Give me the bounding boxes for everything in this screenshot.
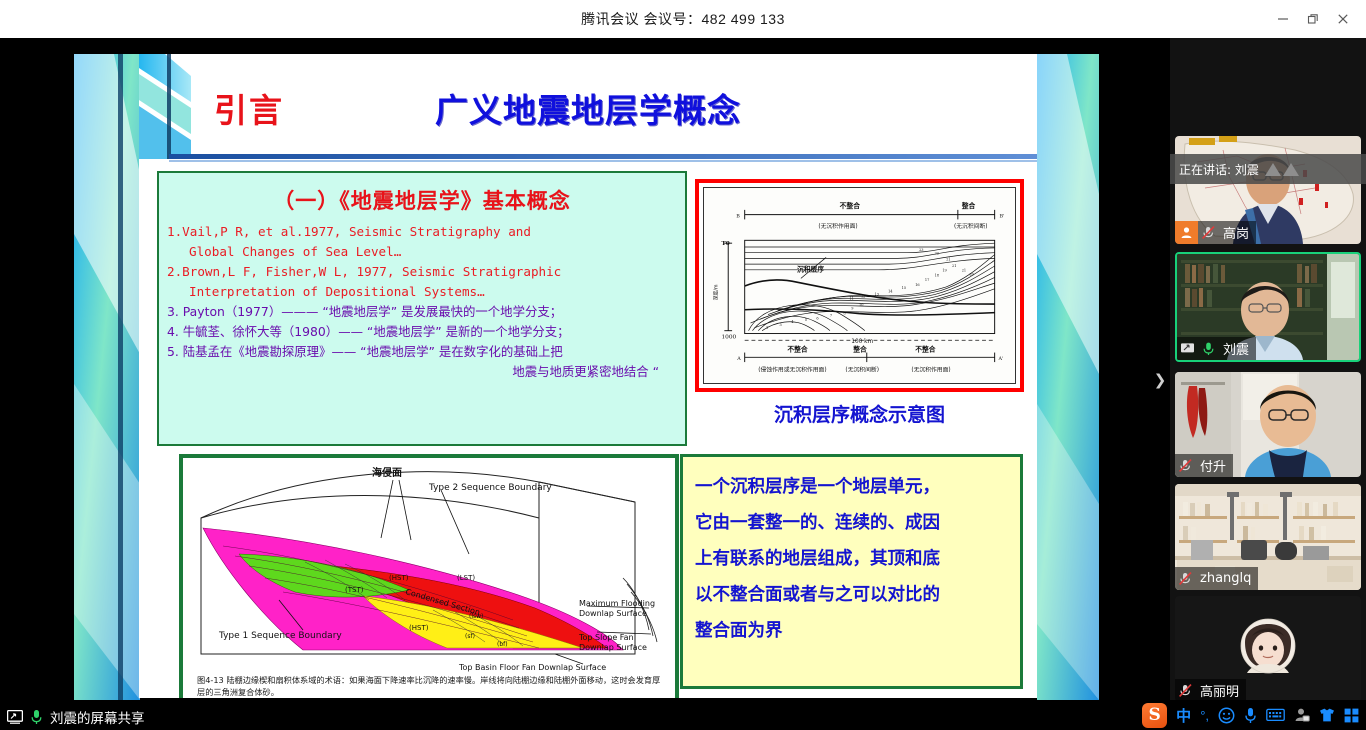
svg-text:17: 17 — [925, 278, 929, 282]
active-speaker-banner: 正在讲话: 刘震 — [1170, 154, 1366, 184]
svg-text:14: 14 — [888, 290, 893, 294]
concept-item-3: 3. Payton（1977）——— “地震地层学” 是发展最快的一个地学分支； — [167, 302, 677, 322]
screen-share-badge-icon — [1177, 337, 1198, 360]
svg-text:深度/m: 深度/m — [713, 284, 720, 300]
svg-text:6: 6 — [816, 316, 818, 320]
svg-text:B: B — [736, 214, 740, 220]
microphone-muted-icon — [1175, 567, 1196, 590]
label-sea-surface: 海侵面 — [372, 466, 402, 479]
participant-nameplate-liuzhen: 刘震 — [1177, 337, 1256, 360]
svg-text:9: 9 — [851, 307, 853, 311]
label-tsf: Top Slope Fan — [578, 633, 634, 642]
block-diagram-caption: 图4-13 陆棚边缘楔和扇积体系域的术语：如果海面下降速率比沉降的速率慢。岸线将… — [197, 675, 667, 698]
participant-rail: 正在讲话: 刘震 — [1170, 38, 1366, 730]
svg-text:1000: 1000 — [721, 334, 736, 340]
definition-line-1: 一个沉积层序是一个地层单元， — [695, 469, 1010, 505]
concept-box: （一）《地震地层学》基本概念 1.Vail,P R, et al.1977, S… — [157, 171, 687, 446]
block-diagram-canvas: 海侵面 Type 2 Sequence Boundary Type 1 Sequ… — [183, 458, 675, 698]
participant-name-gaoliming: 高丽明 — [1200, 681, 1239, 700]
definition-line-5: 整合面为界 — [695, 613, 1010, 649]
svg-text:8: 8 — [844, 312, 846, 316]
svg-text:21: 21 — [952, 264, 956, 268]
concept-heading: （一）《地震地层学》基本概念 — [167, 185, 677, 215]
svg-text:T0: T0 — [721, 241, 729, 247]
participant-name-liuzhen: 刘震 — [1223, 339, 1249, 358]
microphone-muted-icon — [1175, 454, 1196, 477]
svg-text:不整合: 不整合 — [915, 345, 936, 354]
svg-text:整合: 整合 — [961, 201, 976, 210]
ribbon-right-decoration — [1037, 54, 1099, 700]
svg-text:20: 20 — [969, 273, 973, 277]
block-diagram-figure: 海侵面 Type 2 Sequence Boundary Type 1 Sequ… — [179, 454, 679, 698]
ribbon-left-decoration — [74, 54, 140, 700]
concept-item-1: 1.Vail,P R, et al.1977, Seismic Stratigr… — [167, 222, 677, 242]
window-controls — [1268, 0, 1366, 38]
window-title: 腾讯会议 会议号：482 499 133 — [581, 9, 785, 29]
active-speaker-label: 正在讲话: 刘震 — [1179, 161, 1259, 178]
participant-nameplate-gaogang: 高岗 — [1175, 221, 1256, 244]
svg-text:(bf): (bf) — [497, 641, 508, 648]
share-status-bar: 刘震的屏幕共享 — [0, 704, 1170, 730]
concept-item-5: 5. 陆基孟在《地震勘探原理》—— “地震地层学” 是在数字化的基础上把 — [167, 342, 677, 362]
chinese-mode-icon[interactable]: 中 — [1176, 705, 1191, 726]
svg-text:100 km: 100 km — [851, 339, 873, 345]
slide-header: 引言 广义地震地层学概念 — [139, 54, 1037, 159]
user-icon[interactable] — [1294, 707, 1310, 723]
participant-tile-liuzhen[interactable]: 刘震 — [1175, 252, 1361, 362]
svg-text:5: 5 — [805, 318, 807, 322]
participant-nameplate-zhanglq: zhanglq — [1175, 567, 1258, 590]
tencent-meeting-window: 腾讯会议 会议号：482 499 133 — [0, 0, 1366, 730]
svg-text:(无沉积作用面): (无沉积作用面) — [818, 222, 857, 230]
microphone-muted-icon — [1175, 679, 1196, 702]
svg-text:15: 15 — [902, 286, 906, 290]
svg-text:(sf): (sf) — [465, 633, 475, 640]
svg-text:(LST): (LST) — [457, 574, 475, 582]
header-rule — [169, 154, 1037, 159]
skin-icon[interactable] — [1319, 707, 1335, 723]
participant-tile-fusheng[interactable]: 付升 — [1175, 372, 1361, 477]
participant-nameplate-fusheng: 付升 — [1175, 454, 1233, 477]
participant-name-fusheng: 付升 — [1200, 456, 1226, 475]
punctuation-icon[interactable]: °, — [1200, 708, 1209, 723]
concept-item-1b: Global Changes of Sea Level… — [167, 242, 677, 262]
label-type1: Type 1 Sequence Boundary — [218, 631, 342, 641]
microphone-muted-icon — [1198, 221, 1219, 244]
seismic-figure-caption: 沉积层序概念示意图 — [695, 400, 1024, 427]
seismic-section-figure: B B' 不整合 整合 (无沉积作用面) (无沉积间断) T0 1000 深度/… — [695, 179, 1024, 392]
emoji-icon[interactable] — [1218, 707, 1235, 724]
screen-share-icon — [6, 709, 23, 725]
restore-icon[interactable] — [1298, 0, 1328, 38]
svg-text:(lsw): (lsw) — [469, 613, 483, 620]
svg-text:A': A' — [998, 356, 1004, 362]
slide-title-main: 广义地震地层学概念 — [139, 84, 1037, 132]
svg-text:(HST): (HST) — [409, 624, 429, 632]
concept-item-5b: 地震与地质更紧密地结合 “ — [167, 362, 677, 382]
close-icon[interactable] — [1328, 0, 1358, 38]
svg-text:(无沉积间断): (无沉积间断) — [845, 366, 879, 374]
svg-text:7: 7 — [830, 313, 832, 317]
svg-text:19: 19 — [942, 269, 946, 273]
microphone-icon — [28, 709, 45, 725]
definition-line-4: 以不整合面或者与之可以对比的 — [695, 577, 1010, 613]
title-bar: 腾讯会议 会议号：482 499 133 — [0, 0, 1366, 38]
svg-text:Downlap Surface: Downlap Surface — [579, 609, 647, 618]
svg-text:(HST): (HST) — [389, 574, 409, 582]
svg-text:不整合: 不整合 — [787, 345, 808, 354]
svg-text:整合: 整合 — [852, 345, 867, 354]
svg-text:16: 16 — [915, 283, 919, 287]
svg-text:B': B' — [999, 214, 1004, 220]
svg-text:(侵蚀作用或无沉积作用面): (侵蚀作用或无沉积作用面) — [758, 366, 826, 374]
svg-text:(无沉积间断): (无沉积间断) — [954, 222, 988, 230]
ime-toolbar: S 中 °, — [1138, 700, 1366, 730]
svg-text:12: 12 — [861, 294, 865, 298]
svg-text:18: 18 — [935, 273, 939, 277]
definition-line-2: 它由一套整一的、连续的、成因 — [695, 505, 1010, 541]
svg-text:13: 13 — [875, 293, 879, 297]
sogou-logo-icon[interactable]: S — [1142, 703, 1167, 728]
concept-item-4: 4. 牛毓荃、徐怀大等（1980）—— “地震地层学” 是新的一个地学分支； — [167, 322, 677, 342]
concept-item-2: 2.Brown,L F, Fisher,W L, 1977, Seismic S… — [167, 262, 677, 282]
concept-item-2b: Interpretation of Depositional Systems… — [167, 282, 677, 302]
svg-text:11: 11 — [849, 296, 853, 300]
label-type2: Type 2 Sequence Boundary — [428, 483, 552, 493]
apps-icon[interactable] — [1344, 708, 1359, 723]
header-rule-secondary — [169, 160, 1037, 162]
participant-tile-gaoliming[interactable]: 高丽明 — [1175, 596, 1361, 702]
audio-wave-icon — [1265, 163, 1299, 176]
svg-text:3: 3 — [780, 323, 782, 327]
presentation-slide: 引言 广义地震地层学概念 （一）《地震地层学》基本概念 1.Vail,P R, … — [139, 54, 1037, 698]
svg-text:不整合: 不整合 — [840, 201, 861, 210]
svg-text:21: 21 — [962, 269, 966, 273]
svg-text:Downlap Surface: Downlap Surface — [579, 643, 647, 652]
svg-text:(无沉积作用面): (无沉积作用面) — [911, 366, 950, 374]
definition-line-3: 上有联系的地层组成，其顶和底 — [695, 541, 1010, 577]
minimize-icon[interactable] — [1268, 0, 1298, 38]
participant-nameplate-gaoliming: 高丽明 — [1175, 679, 1246, 702]
svg-text:沉积层序: 沉积层序 — [797, 265, 824, 274]
voice-input-icon[interactable] — [1244, 707, 1257, 724]
svg-text:(TST): (TST) — [345, 586, 364, 594]
label-tbf: Top Basin Floor Fan Downlap Surface — [458, 663, 606, 672]
svg-text:A: A — [736, 356, 741, 362]
avatar-badge-icon — [1175, 221, 1198, 244]
seismic-figure-canvas: B B' 不整合 整合 (无沉积作用面) (无沉积间断) T0 1000 深度/… — [703, 187, 1016, 384]
svg-text:10: 10 — [859, 303, 863, 307]
collapse-panel-chevron-icon[interactable]: ❯ — [1152, 348, 1168, 412]
svg-text:22: 22 — [935, 252, 939, 256]
share-status-label: 刘震的屏幕共享 — [50, 707, 145, 727]
participant-tile-zhanglq[interactable]: zhanglq — [1175, 484, 1361, 590]
definition-box: 一个沉积层序是一个地层单元， 它由一套整一的、连续的、成因 上有联系的地层组成，… — [680, 454, 1023, 689]
shared-screen-stage: 引言 广义地震地层学概念 （一）《地震地层学》基本概念 1.Vail,P R, … — [0, 38, 1170, 730]
label-mfs: Maximum Flooding — [579, 599, 655, 608]
participant-name-gaogang: 高岗 — [1223, 223, 1249, 242]
participant-name-zhanglq: zhanglq — [1200, 571, 1251, 586]
soft-keyboard-icon[interactable] — [1266, 708, 1285, 722]
svg-text:1: 1 — [766, 326, 768, 330]
svg-text:21: 21 — [946, 257, 950, 261]
participant-tile-gaogang[interactable]: 高岗 — [1175, 136, 1361, 244]
microphone-active-icon — [1198, 337, 1219, 360]
svg-text:23: 23 — [919, 248, 923, 252]
